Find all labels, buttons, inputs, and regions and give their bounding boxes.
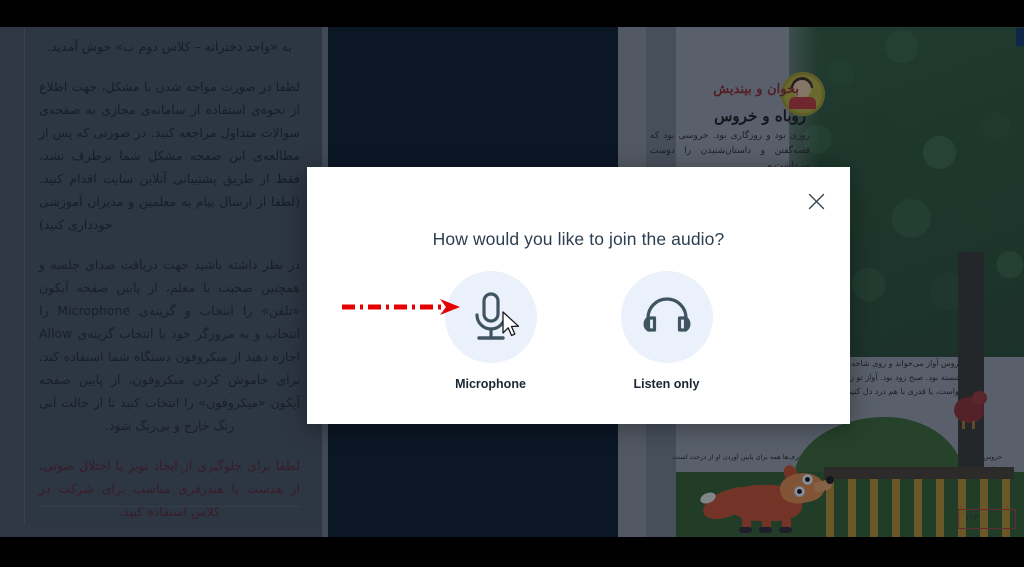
page-number: ۱۱۳ bbox=[965, 513, 978, 522]
audio-options: Microphone Listen only bbox=[307, 271, 850, 391]
notice-card: به «واحد دخترانه – کلاس دوم ب» خوش آمدید… bbox=[24, 27, 320, 525]
page-number-box: ۱۱۳ bbox=[958, 509, 1016, 529]
headphones-icon bbox=[642, 294, 692, 340]
notice-headset: لطفا برای جلوگیری از ایجاد نویز یا اختلا… bbox=[39, 454, 300, 523]
microphone-option-label: Microphone bbox=[455, 377, 526, 391]
blue-marker bbox=[1016, 28, 1024, 46]
book-story-title: روباه و خروس bbox=[714, 107, 806, 125]
rooster-illustration bbox=[950, 383, 990, 429]
microphone-icon bbox=[468, 291, 514, 343]
notice-support-info: لطفا در صورت مواجه شدن با مشکل، جهت اطلا… bbox=[39, 75, 300, 236]
notice-welcome: به «واحد دخترانه – کلاس دوم ب» خوش آمدید… bbox=[39, 35, 300, 58]
modal-title: How would you like to join the audio? bbox=[307, 229, 850, 250]
listen-only-option[interactable]: Listen only bbox=[608, 271, 726, 391]
tree-trunk-illustration bbox=[958, 252, 984, 482]
headphones-icon-circle[interactable] bbox=[621, 271, 713, 363]
join-audio-modal: How would you like to join the audio? Mi… bbox=[307, 167, 850, 424]
listen-only-option-label: Listen only bbox=[634, 377, 700, 391]
notice-divider bbox=[39, 506, 300, 507]
close-icon[interactable] bbox=[802, 187, 830, 215]
microphone-option[interactable]: Microphone bbox=[432, 271, 550, 391]
left-info-panel: به «واحد دخترانه – کلاس دوم ب» خوش آمدید… bbox=[0, 27, 328, 537]
notice-audio-howto: در نظر داشته باشید جهت دریافت صدای جلسه … bbox=[39, 253, 300, 437]
fence-rail bbox=[824, 467, 1014, 479]
book-section-label: بخوان و بیندیش bbox=[713, 82, 799, 97]
screenshot-root: به «واحد دخترانه – کلاس دوم ب» خوش آمدید… bbox=[0, 0, 1024, 567]
microphone-icon-circle[interactable] bbox=[445, 271, 537, 363]
fox-illustration bbox=[706, 461, 834, 533]
